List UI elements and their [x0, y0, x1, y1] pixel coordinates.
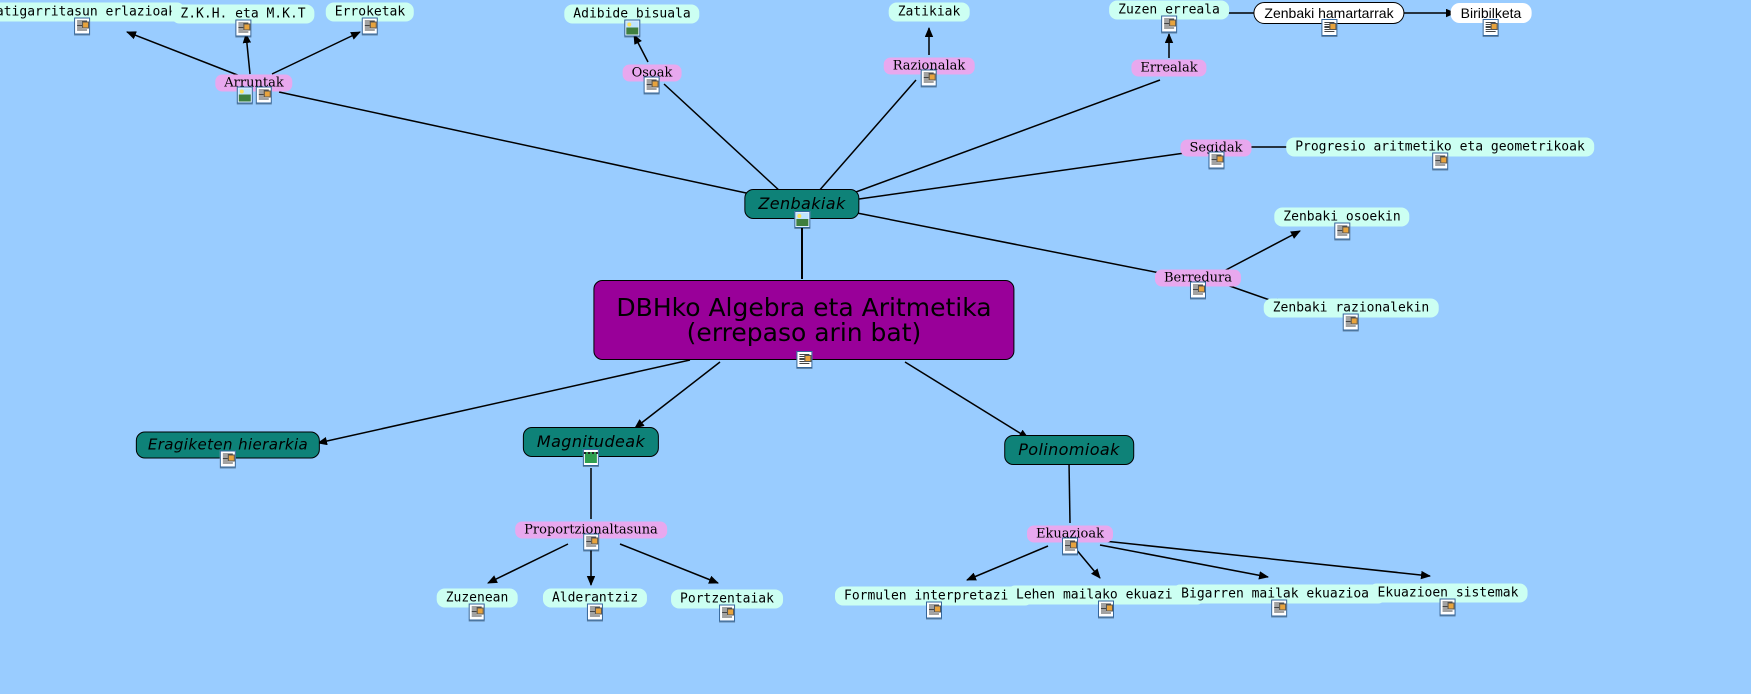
branch-node-eragiketen-hierarkia[interactable]: Eragiketen hierarkia: [136, 432, 320, 459]
arruntak-icons: [236, 87, 271, 104]
ekuazioen-sistemak-icons: [1440, 599, 1456, 616]
leaf-node-bigarren-mailak-ekuazioak[interactable]: Bigarren mailak ekuazioak: [1172, 585, 1386, 604]
sub-node-osoak[interactable]: Osoak: [623, 65, 682, 82]
doc-icon[interactable]: [1271, 600, 1287, 617]
razionalak-icons: [921, 70, 937, 87]
doc-icon[interactable]: [719, 605, 735, 622]
formulen-interpretazioa-icons: [926, 602, 942, 619]
doc-icon[interactable]: [469, 604, 485, 621]
doc-icon[interactable]: [74, 18, 90, 35]
eragiketen-hierarkia-icons: [220, 451, 236, 468]
zenbakiak-icons: [794, 211, 810, 228]
ekuazioak-icons: [1062, 538, 1078, 555]
mindmap-canvas: DBHko Algebra eta Aritmetika (errepaso a…: [0, 0, 1751, 694]
leaf-node-zatigarritasun-erlazioak[interactable]: Zatigarritasun erlazioak: [0, 3, 185, 22]
doc-icon[interactable]: [1062, 538, 1078, 555]
doc-icon[interactable]: [1432, 153, 1448, 170]
sub-node-errealak[interactable]: Errealak: [1131, 60, 1206, 77]
branch-node-polinomioak[interactable]: Polinomioak: [1004, 435, 1134, 465]
leaf-node-zuzen-erreala[interactable]: Zuzen erreala: [1109, 1, 1229, 20]
leaf-node-zkh-eta-mkt[interactable]: Z.K.H. eta M.K.T: [171, 5, 314, 24]
doc-icon[interactable]: [255, 87, 271, 104]
zuzen-erreala-icons: [1161, 16, 1177, 33]
sub-node-segidak[interactable]: Segidak: [1180, 140, 1251, 157]
biribilketa-icons: [1483, 19, 1499, 36]
zkh-eta-mkt-icons: [235, 20, 251, 37]
leaf-label-biribilketa: Biribilketa: [1461, 6, 1522, 20]
doc-icon[interactable]: [1334, 223, 1350, 240]
doc-icon[interactable]: [1161, 16, 1177, 33]
doc-icon[interactable]: [220, 451, 236, 468]
adibide-bisuala-icons: [624, 20, 640, 37]
doc-icon[interactable]: [921, 70, 937, 87]
leaf-node-biribilketa[interactable]: Biribilketa: [1451, 3, 1532, 23]
image-icon[interactable]: [236, 87, 252, 104]
zenbaki-hamartarrak-icons: [1321, 19, 1337, 36]
film-icon[interactable]: [583, 449, 599, 466]
doc-icon[interactable]: [1208, 152, 1224, 169]
doc-icon[interactable]: [796, 351, 812, 368]
sub-node-proportzionaltasuna[interactable]: Proportzionaltasuna: [515, 522, 667, 539]
doc-icon[interactable]: [1440, 599, 1456, 616]
branch-label-magnitudeak: Magnitudeak: [537, 434, 645, 450]
root-title-line2: (errepaso arin bat): [687, 320, 922, 345]
bigarren-mailak-ekuazioak-icons: [1271, 600, 1287, 617]
zatigarritasun-erlazioak-icons: [74, 18, 90, 35]
zenbaki-osoekin-icons: [1334, 223, 1350, 240]
zenbaki-razionalekin-icons: [1343, 314, 1359, 331]
leaf-label-zenbaki-hamartarrak: Zenbaki hamartarrak: [1264, 6, 1393, 20]
leaf-node-zuzenean[interactable]: Zuzenean: [437, 589, 518, 608]
doc-icon[interactable]: [235, 20, 251, 37]
erroketak-icons: [362, 18, 378, 35]
root-icons: [796, 351, 812, 368]
doc-icon[interactable]: [1190, 282, 1206, 299]
leaf-node-zenbaki-osoekin[interactable]: Zenbaki osoekin: [1274, 208, 1409, 227]
root-node-algebra-aritmetika[interactable]: DBHko Algebra eta Aritmetika (errepaso a…: [593, 280, 1014, 360]
image-icon[interactable]: [794, 211, 810, 228]
branch-node-zenbakiak[interactable]: Zenbakiak: [744, 189, 859, 219]
leaf-label-zatikiak: Zatikiak: [898, 6, 961, 19]
branch-node-magnitudeak[interactable]: Magnitudeak: [523, 427, 659, 457]
leaf-node-progresio[interactable]: Progresio aritmetiko eta geometrikoak: [1286, 138, 1594, 157]
portzentaiak-icons: [719, 605, 735, 622]
branch-label-zenbakiak: Zenbakiak: [758, 196, 845, 212]
doc-icon[interactable]: [644, 77, 660, 94]
leaf-node-portzentaiak[interactable]: Portzentaiak: [671, 590, 783, 609]
leaf-node-zenbaki-hamartarrak[interactable]: Zenbaki hamartarrak: [1253, 2, 1404, 24]
berredura-icons: [1190, 282, 1206, 299]
leaf-node-zenbaki-razionalekin[interactable]: Zenbaki razionalekin: [1264, 299, 1439, 318]
segidak-icons: [1208, 152, 1224, 169]
progresio-icons: [1432, 153, 1448, 170]
image-icon[interactable]: [624, 20, 640, 37]
doc-icon[interactable]: [926, 602, 942, 619]
doc-icon[interactable]: [1483, 19, 1499, 36]
doc-icon[interactable]: [583, 534, 599, 551]
leaf-node-alderantziz[interactable]: Alderantziz: [543, 589, 647, 608]
zuzenean-icons: [469, 604, 485, 621]
root-title-line1: DBHko Algebra eta Aritmetika: [616, 295, 991, 320]
leaf-node-ekuazioen-sistemak[interactable]: Ekuazioen sistemak: [1369, 584, 1528, 603]
sub-node-ekuazioak[interactable]: Ekuazioak: [1027, 526, 1113, 543]
osoak-icons: [644, 77, 660, 94]
leaf-node-adibide-bisuala[interactable]: Adibide bisuala: [564, 5, 699, 24]
leaf-node-formulen-interpretazioa[interactable]: Formulen interpretazioa: [835, 587, 1033, 606]
lehen-mailako-ekuazioak-icons: [1098, 601, 1114, 618]
sub-label-errealak: Errealak: [1140, 62, 1197, 75]
doc-icon[interactable]: [1343, 314, 1359, 331]
doc-icon[interactable]: [1321, 19, 1337, 36]
sub-node-berredura[interactable]: Berredura: [1155, 270, 1241, 287]
leaf-node-erroketak[interactable]: Erroketak: [326, 3, 414, 22]
sub-node-arruntak[interactable]: Arruntak: [215, 75, 292, 92]
sub-node-razionalak[interactable]: Razionalak: [884, 58, 975, 75]
magnitudeak-icons: [583, 449, 599, 466]
doc-icon[interactable]: [587, 604, 603, 621]
proportzionaltasuna-icons: [583, 534, 599, 551]
branch-label-polinomioak: Polinomioak: [1018, 442, 1120, 458]
doc-icon[interactable]: [362, 18, 378, 35]
leaf-node-zatikiak[interactable]: Zatikiak: [889, 3, 970, 22]
doc-icon[interactable]: [1098, 601, 1114, 618]
alderantziz-icons: [587, 604, 603, 621]
